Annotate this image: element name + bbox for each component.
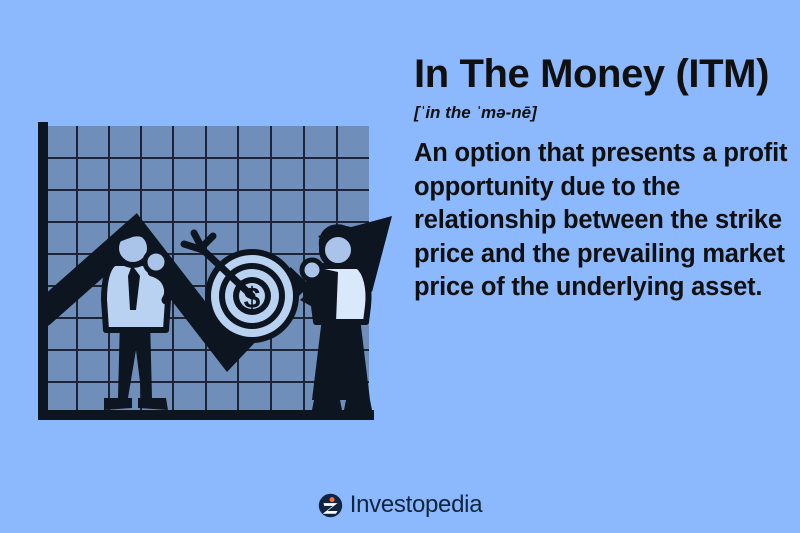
definition-text: An option that presents a profit opportu…	[414, 137, 790, 305]
definition-text-column: In The Money (ITM) [ˈin the ˈmə-nē] An o…	[414, 52, 790, 305]
investopedia-logo-icon	[318, 493, 343, 518]
page-title: In The Money (ITM)	[414, 52, 790, 97]
x-axis	[38, 410, 374, 420]
pronunciation-text: [ˈin the ˈmə-nē]	[414, 103, 790, 123]
definition-card: $	[0, 0, 800, 533]
brand-footer: Investopedia	[0, 491, 800, 519]
stock-chart-illustration: $	[0, 0, 400, 470]
y-axis	[38, 122, 48, 418]
brand-name: Investopedia	[350, 491, 483, 519]
